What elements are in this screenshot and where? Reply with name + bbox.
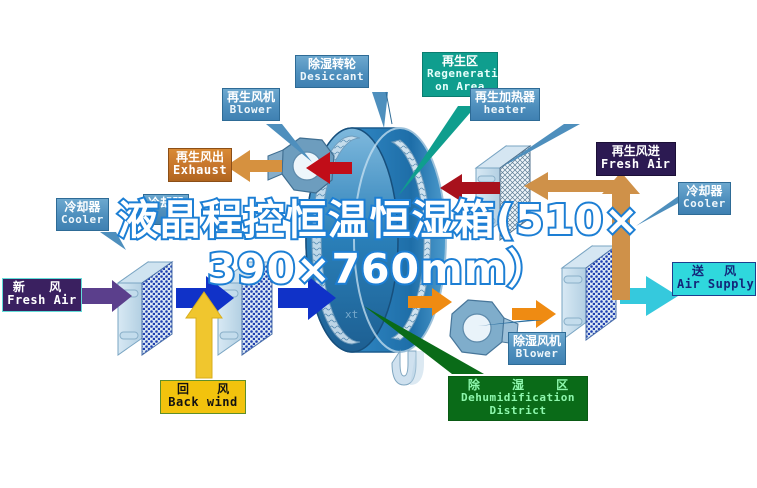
label-dehumid-area: 除 湿 区 Dehumidification District (448, 376, 588, 421)
label-regen-blower: 再生风机 Blower (222, 88, 280, 121)
label-exhaust-cn: 再生风出 (173, 151, 227, 164)
label-exhaust: 再生风出 Exhaust (168, 148, 232, 182)
label-regen-blower-en: Blower (227, 104, 275, 116)
label-desiccant-en: Desiccant (300, 71, 364, 83)
label-exhaust-en: Exhaust (173, 164, 227, 177)
label-regen-fresh-air-en: Fresh Air (601, 158, 671, 171)
label-fresh-air-en: Fresh Air (7, 294, 77, 307)
label-dehumid-area-en2: District (453, 405, 583, 417)
label-back-wind: 回 风 Back wind (160, 380, 246, 414)
label-regen-fresh-air-cn: 再生风进 (601, 145, 671, 158)
label-dehumid-area-cn: 除 湿 区 (453, 379, 583, 392)
diagram-canvas: xt (0, 0, 757, 488)
label-regen-blower-cn: 再生风机 (227, 91, 275, 104)
label-desiccant: 除湿转轮 Desiccant (295, 55, 369, 88)
label-regen-heater-en: heater (475, 104, 535, 116)
label-desiccant-cn: 除湿转轮 (300, 58, 364, 71)
label-back-wind-en: Back wind (165, 396, 241, 409)
label-regen-fresh-air: 再生风进 Fresh Air (596, 142, 676, 176)
label-regen-heater: 再生加热器 heater (470, 88, 540, 121)
label-dehumid-area-en: Dehumidification (453, 392, 583, 404)
product-title-overlay: 液晶程控恒温恒湿箱(510× 390×760mm） (0, 196, 757, 294)
product-title-line2: 390×760mm） (0, 245, 757, 294)
arrow-blower-to-supply-coil (512, 300, 556, 328)
svg-text:xt: xt (345, 308, 358, 321)
label-regen-heater-cn: 再生加热器 (475, 91, 535, 104)
label-back-wind-cn: 回 风 (165, 383, 241, 396)
label-dehumid-blower-en: Blower (513, 348, 561, 360)
label-dehumid-blower-cn: 除湿风机 (513, 335, 561, 348)
label-dehumid-blower: 除湿风机 Blower (508, 332, 566, 365)
label-regen-area-cn: 再生区 (427, 55, 493, 68)
product-title-line1: 液晶程控恒温恒湿箱(510× (0, 196, 757, 245)
label-regen-area-en: Regenerati (427, 68, 493, 80)
rotor-purge-duct (392, 351, 424, 385)
